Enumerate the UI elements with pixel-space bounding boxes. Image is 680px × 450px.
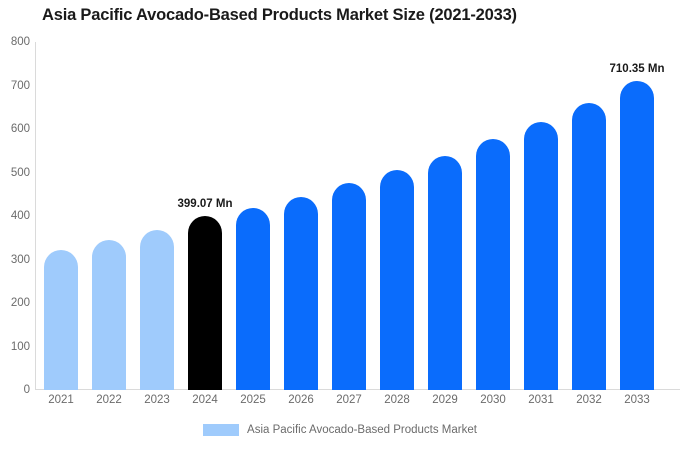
bars-layer: 399.07 Mn710.35 Mn bbox=[35, 42, 680, 390]
y-axis-tick-label: 600 bbox=[4, 123, 30, 135]
bar-2030[interactable] bbox=[476, 139, 510, 390]
bar-group bbox=[380, 42, 414, 390]
y-axis-tick-label: 200 bbox=[4, 297, 30, 309]
bar-group bbox=[428, 42, 462, 390]
x-axis-tick-label: 2028 bbox=[384, 394, 410, 406]
legend-item[interactable]: Asia Pacific Avocado-Based Products Mark… bbox=[203, 424, 477, 436]
bar-value-label-2024: 399.07 Mn bbox=[178, 198, 233, 210]
x-axis-tick-label: 2025 bbox=[240, 394, 266, 406]
x-axis-tick-label: 2030 bbox=[480, 394, 506, 406]
bar-2033[interactable] bbox=[620, 81, 654, 390]
bar-group bbox=[620, 42, 654, 390]
y-axis-tick-label: 0 bbox=[4, 384, 30, 396]
y-axis-tick-label: 700 bbox=[4, 80, 30, 92]
x-axis-tick-label: 2024 bbox=[192, 394, 218, 406]
bar-2024[interactable] bbox=[188, 216, 222, 390]
chart-title: Asia Pacific Avocado-Based Products Mark… bbox=[42, 6, 662, 25]
bar-2031[interactable] bbox=[524, 122, 558, 390]
y-axis-tick-label: 300 bbox=[4, 254, 30, 266]
bar-group bbox=[92, 42, 126, 390]
bar-group bbox=[44, 42, 78, 390]
bar-group bbox=[476, 42, 510, 390]
x-axis-tick-label: 2022 bbox=[96, 394, 122, 406]
bar-group bbox=[188, 42, 222, 390]
bar-group bbox=[236, 42, 270, 390]
y-axis-tick-label: 100 bbox=[4, 341, 30, 353]
bar-group bbox=[140, 42, 174, 390]
x-axis-tick-label: 2023 bbox=[144, 394, 170, 406]
x-axis-tick-label: 2027 bbox=[336, 394, 362, 406]
x-axis-tick-label: 2029 bbox=[432, 394, 458, 406]
x-axis-tick-label: 2021 bbox=[48, 394, 74, 406]
bar-group bbox=[524, 42, 558, 390]
bar-2028[interactable] bbox=[380, 170, 414, 390]
bar-group bbox=[572, 42, 606, 390]
y-axis-tick-label: 500 bbox=[4, 167, 30, 179]
x-axis-tick-label: 2032 bbox=[576, 394, 602, 406]
legend-swatch-icon bbox=[203, 424, 239, 436]
bar-group bbox=[284, 42, 318, 390]
x-axis-tick-label: 2031 bbox=[528, 394, 554, 406]
y-axis: 8007006005004003002001000 bbox=[0, 42, 30, 390]
bar-2026[interactable] bbox=[284, 197, 318, 390]
x-axis-tick-label: 2033 bbox=[624, 394, 650, 406]
legend-item-label: Asia Pacific Avocado-Based Products Mark… bbox=[247, 424, 477, 436]
bar-2027[interactable] bbox=[332, 183, 366, 390]
bar-value-label-2033: 710.35 Mn bbox=[610, 63, 665, 75]
chart-legend: Asia Pacific Avocado-Based Products Mark… bbox=[0, 424, 680, 436]
bar-2032[interactable] bbox=[572, 103, 606, 390]
bar-2029[interactable] bbox=[428, 156, 462, 390]
bar-2022[interactable] bbox=[92, 240, 126, 390]
bar-group bbox=[332, 42, 366, 390]
y-axis-tick-label: 400 bbox=[4, 210, 30, 222]
x-axis: 2021202220232024202520262027202820292030… bbox=[35, 392, 680, 414]
bar-2021[interactable] bbox=[44, 250, 78, 390]
y-axis-tick-label: 800 bbox=[4, 36, 30, 48]
x-axis-tick-label: 2026 bbox=[288, 394, 314, 406]
bar-2025[interactable] bbox=[236, 208, 270, 390]
bar-2023[interactable] bbox=[140, 230, 174, 391]
bar-chart: Asia Pacific Avocado-Based Products Mark… bbox=[0, 0, 680, 450]
